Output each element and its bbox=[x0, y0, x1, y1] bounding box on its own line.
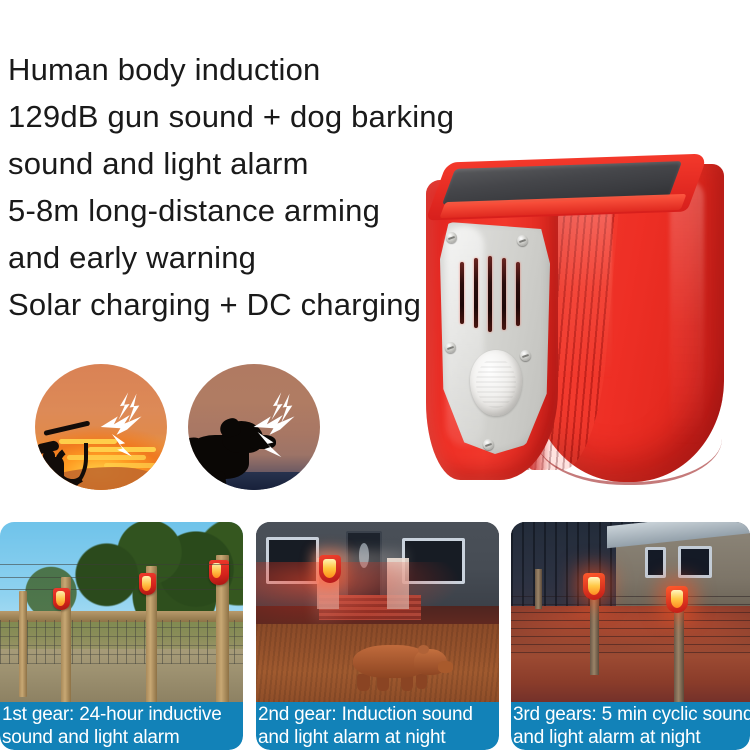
caption-line-2: sound and light alarm bbox=[2, 726, 243, 749]
speaker-slot-3 bbox=[488, 256, 492, 332]
card-caption: 1st gear: 24-hour inductive sound and li… bbox=[0, 702, 243, 750]
feature-line-4: 5-8m long-distance arming bbox=[8, 187, 478, 234]
feature-line-1: Human body induction bbox=[8, 46, 478, 93]
caption-line-1: 2nd gear: Induction sound bbox=[258, 703, 499, 726]
mounted-alarm-device bbox=[319, 555, 341, 583]
caption-line-1: 3rd gears: 5 min cyclic sound bbox=[513, 703, 750, 726]
feature-list: Human body induction 129dB gun sound + d… bbox=[8, 46, 478, 328]
mounted-alarm-device bbox=[666, 586, 688, 613]
feature-line-3: sound and light alarm bbox=[8, 140, 478, 187]
mounted-alarm-device bbox=[583, 573, 605, 600]
faceplate-screw-mid-left bbox=[445, 342, 456, 353]
pir-fresnel-lens-pattern bbox=[476, 358, 516, 408]
feature-line-2: 129dB gun sound + dog barking bbox=[8, 93, 478, 140]
faceplate-screw-bottom bbox=[483, 439, 494, 450]
dog-barking-badge bbox=[188, 364, 320, 490]
card-caption: 2nd gear: Induction sound and light alar… bbox=[256, 702, 499, 750]
sound-wave-bolts bbox=[93, 392, 159, 463]
speaker-slot-4 bbox=[502, 258, 506, 330]
card-1st-gear[interactable]: 1st gear: 24-hour inductive sound and li… bbox=[0, 522, 243, 750]
lightning-bolt-icon bbox=[108, 433, 134, 463]
product-marketing-image: Human body induction 129dB gun sound + d… bbox=[0, 0, 750, 750]
bear-in-yard bbox=[353, 635, 445, 690]
photo-night-house-bear bbox=[256, 522, 499, 704]
sound-wave-bolts bbox=[246, 392, 312, 463]
mounted-alarm-device bbox=[139, 573, 156, 595]
photo-dusk-barn-fence bbox=[511, 522, 750, 704]
card-caption: 3rd gears: 5 min cyclic sound and light … bbox=[511, 702, 750, 750]
gun-sound-badge bbox=[35, 364, 167, 490]
caption-line-1: 1st gear: 24-hour inductive bbox=[2, 703, 243, 726]
speaker-slot-5 bbox=[516, 262, 520, 326]
photo-daytime-farm-fence bbox=[0, 522, 243, 704]
card-3rd-gear[interactable]: 3rd gears: 5 min cyclic sound and light … bbox=[511, 522, 750, 750]
lightning-bolt-icon bbox=[255, 431, 284, 462]
card-2nd-gear[interactable]: 2nd gear: Induction sound and light alar… bbox=[256, 522, 499, 750]
feature-line-6: Solar charging + DC charging bbox=[8, 281, 478, 328]
lens-bottom-rim bbox=[536, 408, 722, 485]
mounted-alarm-device bbox=[53, 588, 70, 610]
caption-line-2: and light alarm at night bbox=[258, 726, 499, 749]
faceplate-screw-mid-right bbox=[520, 350, 531, 361]
use-case-cards: 1st gear: 24-hour inductive sound and li… bbox=[0, 522, 750, 750]
caption-line-2: and light alarm at night bbox=[513, 726, 750, 749]
feature-line-5: and early warning bbox=[8, 234, 478, 281]
faceplate-screw-top-right bbox=[517, 235, 528, 246]
